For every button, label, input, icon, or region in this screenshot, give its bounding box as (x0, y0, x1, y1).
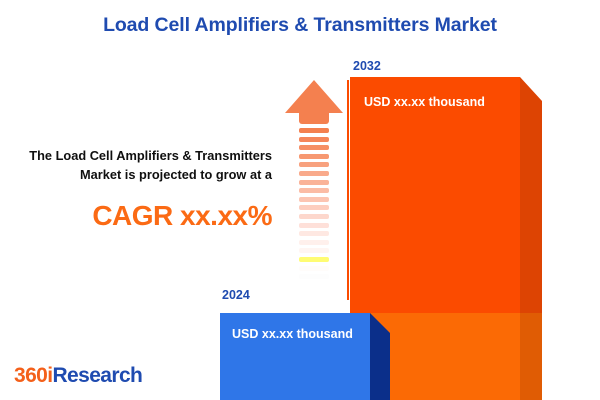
brand-logo: 360iResearch (14, 364, 142, 388)
arrow-head-icon (285, 80, 343, 113)
arrow-divider (347, 80, 349, 300)
page-title: Load Cell Amplifiers & Transmitters Mark… (0, 14, 600, 37)
bar-year-2032: 2032 (353, 59, 381, 73)
bar-value-2032: USD xx.xx thousand (364, 95, 485, 109)
brand-logo-mark: 360i (14, 364, 52, 387)
arrow-stripes (299, 128, 329, 290)
market-statement: The Load Cell Amplifiers & Transmitters … (10, 147, 272, 184)
bar-year-2024: 2024 (222, 288, 250, 302)
cagr-value: CAGR xx.xx% (10, 200, 272, 232)
bar-2032-overlap-side (520, 313, 542, 400)
arrow-neck (299, 110, 329, 124)
infographic-canvas: Load Cell Amplifiers & Transmitters Mark… (0, 0, 600, 400)
growth-arrow-icon (285, 80, 343, 290)
brand-logo-word: Research (52, 364, 142, 387)
bar-value-2024: USD xx.xx thousand (232, 327, 353, 341)
